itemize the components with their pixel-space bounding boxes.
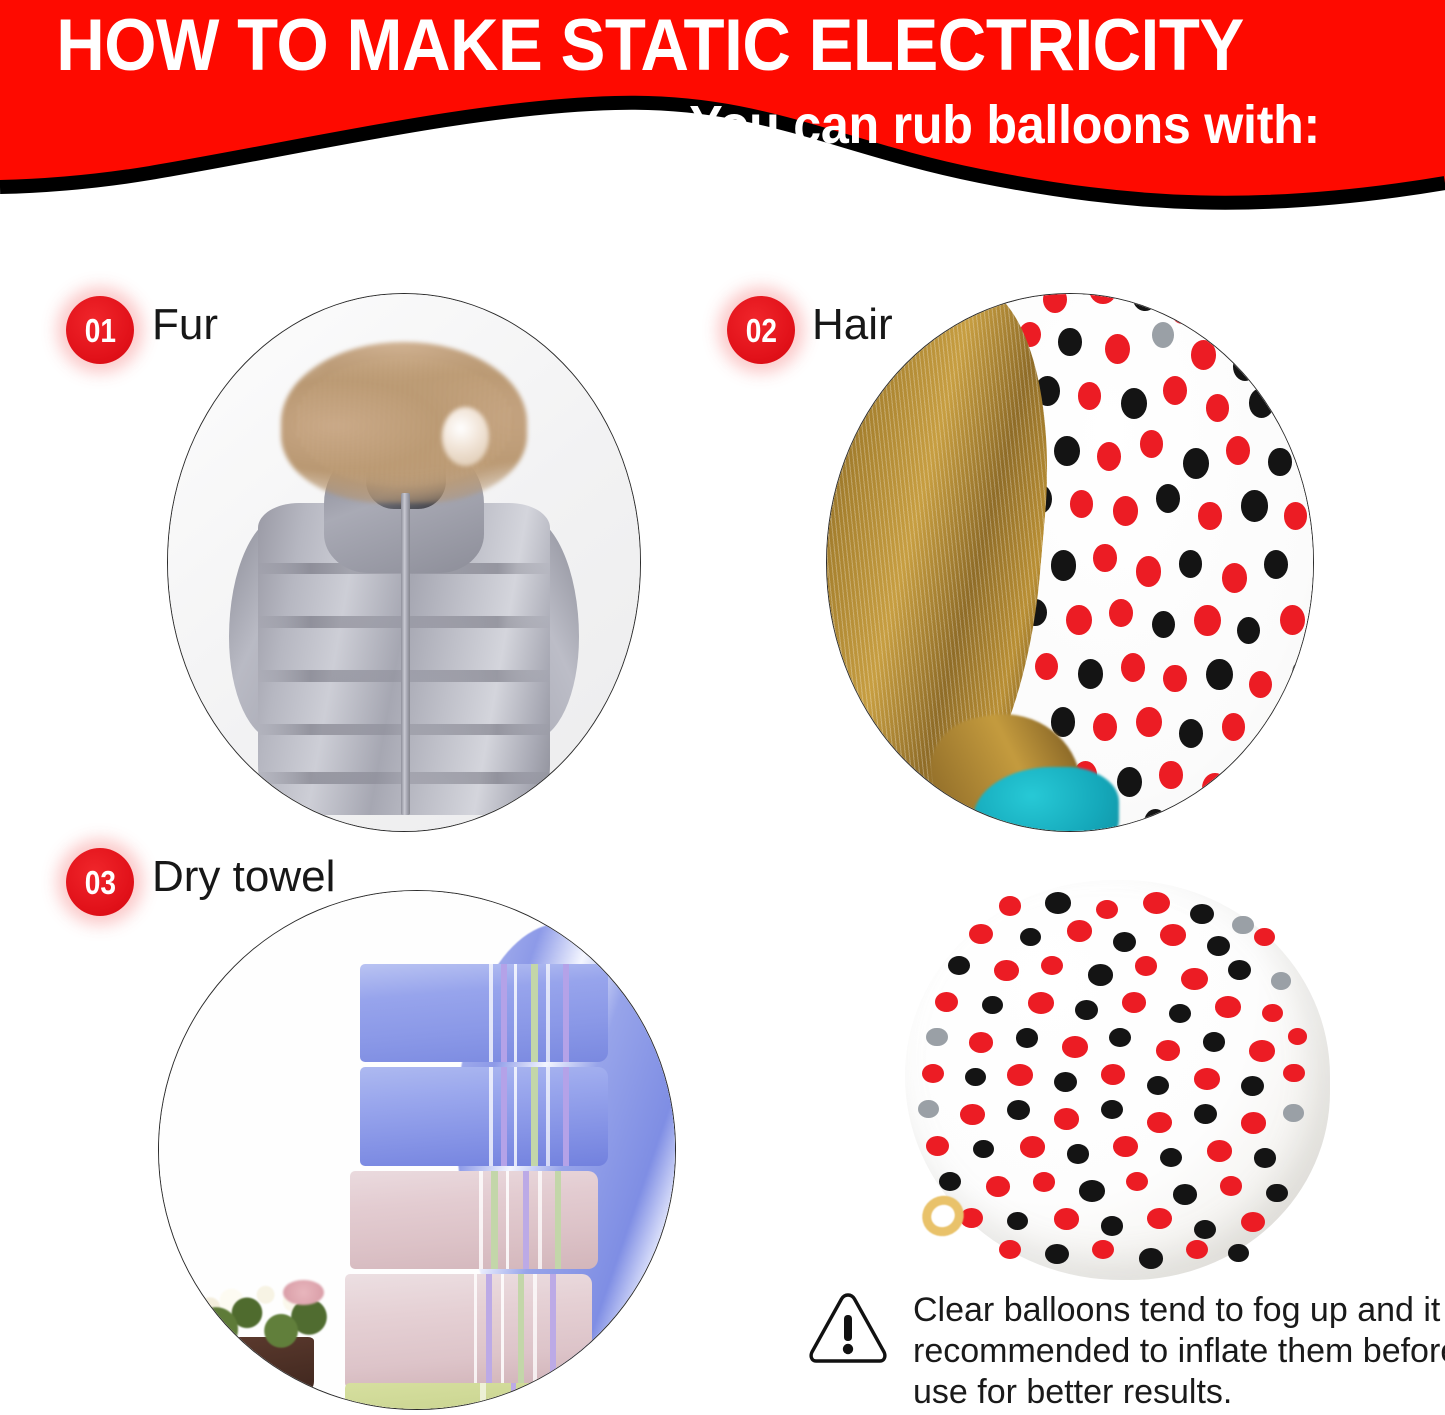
towel-pink-bottom — [345, 1274, 593, 1388]
page-title: HOW TO MAKE STATIC ELECTRICITY — [52, 6, 1248, 86]
towel-stack-image — [159, 891, 675, 1409]
photo-circle-fur — [167, 293, 641, 832]
warning-triangle-icon — [805, 1288, 891, 1368]
gray-puffer-jacket-image — [168, 294, 640, 831]
towel-blue-second — [360, 1067, 608, 1165]
infographic-page: HOW TO MAKE STATIC ELECTRICITY You can r… — [0, 0, 1445, 1415]
towel-blue-top — [360, 964, 608, 1062]
notice-line-2: recommended to inflate them before — [913, 1331, 1445, 1372]
step-number-01: 01 — [84, 314, 115, 347]
header-banner: HOW TO MAKE STATIC ELECTRICITY You can r… — [0, 0, 1445, 215]
product-confetti-balloon — [905, 880, 1330, 1280]
step-badge-01: 01 — [66, 296, 134, 364]
hair-and-balloon-image — [827, 294, 1313, 831]
photo-circle-hair — [826, 293, 1314, 832]
page-subtitle: You can rub balloons with: — [92, 95, 1320, 155]
photo-circle-dry-towel — [158, 890, 676, 1410]
notice-text: Clear balloons tend to fog up and it is … — [913, 1290, 1445, 1413]
notice-block: Clear balloons tend to fog up and it is … — [805, 1288, 1385, 1413]
step-badge-02: 02 — [727, 296, 795, 364]
step-number-03: 03 — [84, 866, 115, 899]
notice-line-1: Clear balloons tend to fog up and it is — [913, 1290, 1445, 1331]
towel-pink-third — [350, 1171, 598, 1269]
step-number-02: 02 — [745, 314, 776, 347]
towel-green-sliver — [345, 1383, 582, 1410]
step-badge-03: 03 — [66, 848, 134, 916]
notice-line-3: use for better results. — [913, 1372, 1445, 1413]
